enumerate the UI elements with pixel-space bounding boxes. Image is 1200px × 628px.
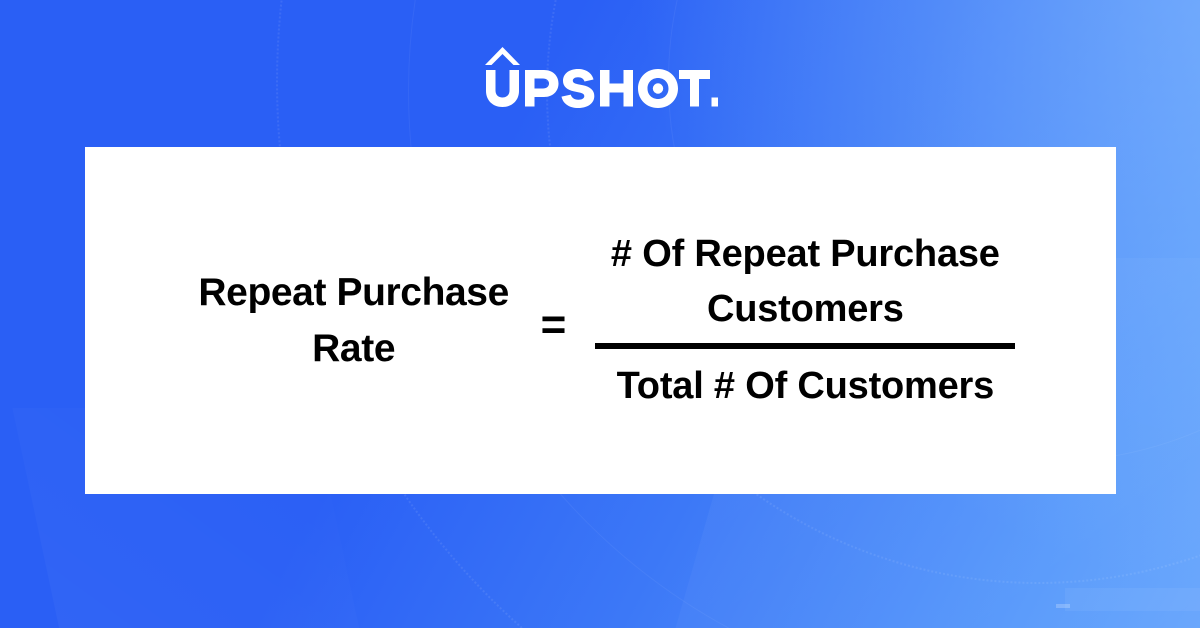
chevron-icon [485, 47, 520, 65]
upshot-ai-logo-mark [482, 46, 718, 108]
fraction: # Of Repeat Purchase Customers Total # O… [582, 227, 1028, 414]
letter-o-center-dot [653, 83, 663, 93]
letter-t [679, 70, 710, 107]
formula-card: Repeat Purchase Rate = # Of Repeat Purch… [85, 147, 1116, 494]
period-dot [712, 98, 719, 107]
fraction-numerator: # Of Repeat Purchase Customers [582, 227, 1028, 343]
formula-equation: Repeat Purchase Rate = # Of Repeat Purch… [85, 147, 1116, 494]
brand-logo [0, 44, 1200, 110]
decorative-band [1065, 588, 1200, 611]
fraction-denominator: Total # Of Customers [617, 349, 994, 414]
decorative-speck [1056, 604, 1070, 608]
poster-canvas: Repeat Purchase Rate = # Of Repeat Purch… [0, 0, 1200, 628]
letter-u [486, 70, 519, 107]
letter-s [562, 69, 595, 108]
letter-p [525, 70, 559, 107]
metric-label: Repeat Purchase Rate [179, 265, 529, 376]
letter-h [600, 70, 633, 107]
equals-sign: = [541, 303, 567, 347]
